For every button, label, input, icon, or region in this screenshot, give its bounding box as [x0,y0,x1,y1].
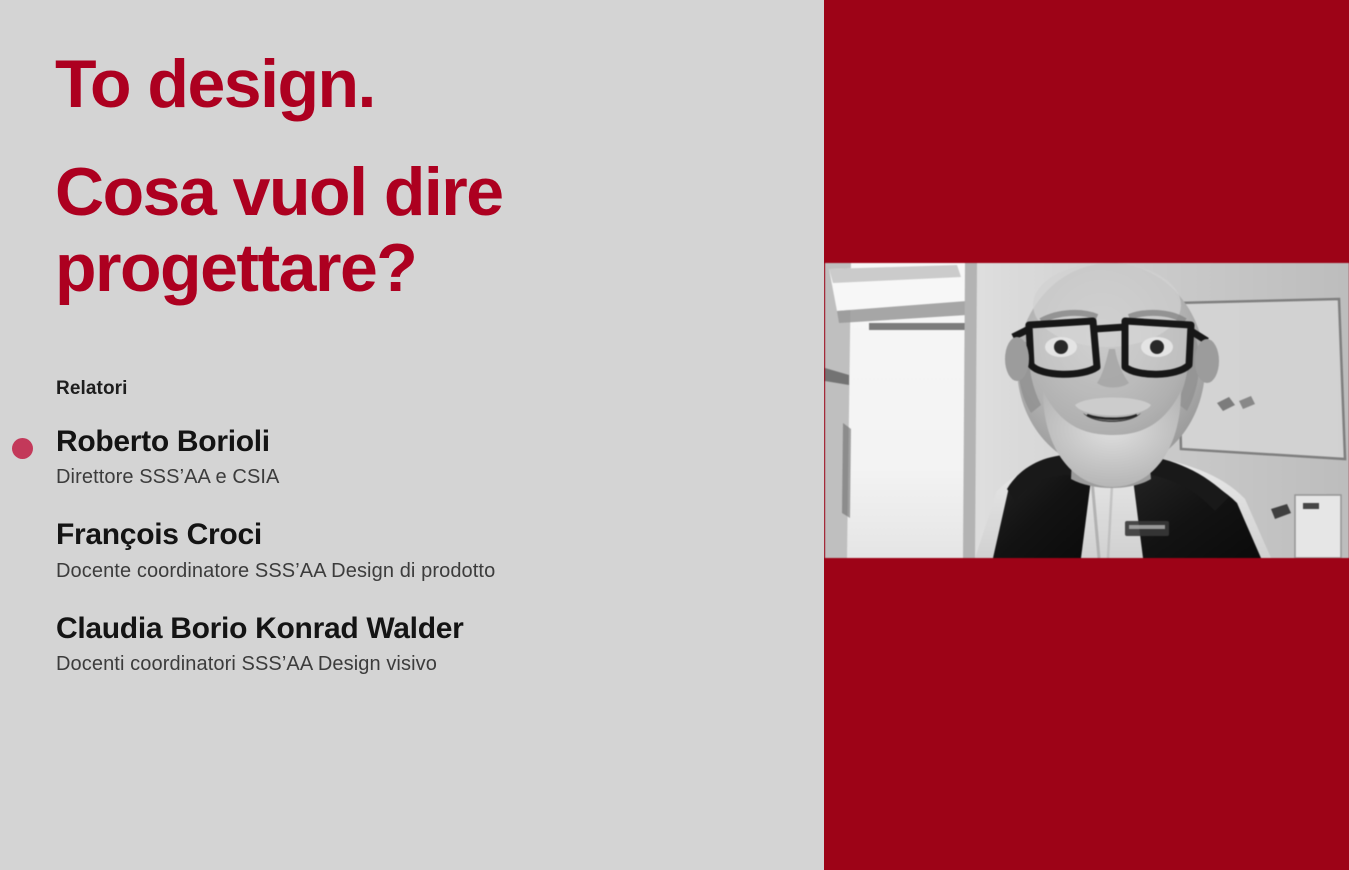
speaker-role: Direttore SSS’AA e CSIA [56,466,796,489]
webcam-video-frame [825,263,1349,558]
slide-with-video-stage: To design. Cosa vuol dire progettare? Re… [0,0,1349,870]
participant-video-tile[interactable] [825,263,1349,558]
speaker-list: Roberto Borioli Direttore SSS’AA e CSIA … [56,424,796,676]
speaker-name: Roberto Borioli [56,424,796,459]
slide-title-line-2: Cosa vuol dire progettare? [55,154,795,306]
presentation-slide-panel: To design. Cosa vuol dire progettare? Re… [0,0,824,870]
speakers-section-label: Relatori [56,378,128,400]
page-title: To design. Cosa vuol dire progettare? [55,46,795,306]
list-item: François Croci Docente coordinatore SSS’… [56,517,796,582]
speaker-name: François Croci [56,517,796,552]
list-item: Claudia Borio Konrad Walder Docenti coor… [56,611,796,676]
active-speaker-dot-icon [12,438,33,459]
speaker-role: Docenti coordinatori SSS’AA Design visiv… [56,653,796,676]
list-item: Roberto Borioli Direttore SSS’AA e CSIA [56,424,796,489]
speaker-name: Claudia Borio Konrad Walder [56,611,796,646]
slide-title-line-1: To design. [55,46,795,122]
video-sidebar-panel [824,0,1349,870]
speaker-role: Docente coordinatore SSS’AA Design di pr… [56,560,796,583]
